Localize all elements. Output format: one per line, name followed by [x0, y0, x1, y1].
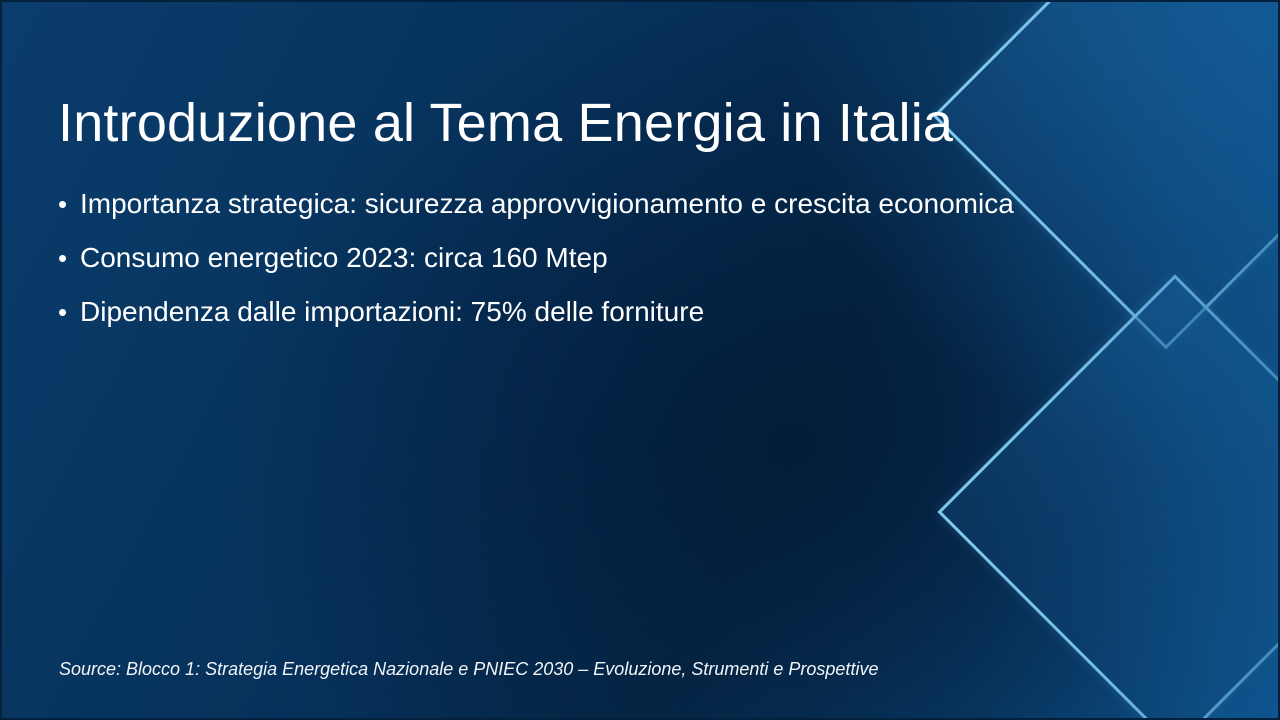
bullet-text-2: Consumo energetico 2023: circa 160 Mtep — [80, 242, 608, 273]
slide-canvas: Introduzione al Tema Energia in Italia •… — [0, 0, 1280, 720]
bullet-list: •Importanza strategica: sicurezza approv… — [58, 190, 1188, 352]
bullet-item-3: •Dipendenza dalle importazioni: 75% dell… — [58, 298, 1188, 326]
bullet-text-3: Dipendenza dalle importazioni: 75% delle… — [80, 296, 704, 327]
bullet-text-1: Importanza strategica: sicurezza approvv… — [80, 188, 1014, 219]
bullet-item-2: •Consumo energetico 2023: circa 160 Mtep — [58, 244, 1188, 272]
source-note: Source: Blocco 1: Strategia Energetica N… — [59, 659, 878, 681]
bullet-marker-icon: • — [58, 245, 80, 271]
bullet-marker-icon: • — [58, 299, 80, 325]
slide-title: Introduzione al Tema Energia in Italia — [58, 94, 1118, 153]
bullet-item-1: •Importanza strategica: sicurezza approv… — [58, 190, 1188, 218]
slide-content: Introduzione al Tema Energia in Italia •… — [2, 2, 1278, 718]
bullet-marker-icon: • — [58, 191, 80, 217]
